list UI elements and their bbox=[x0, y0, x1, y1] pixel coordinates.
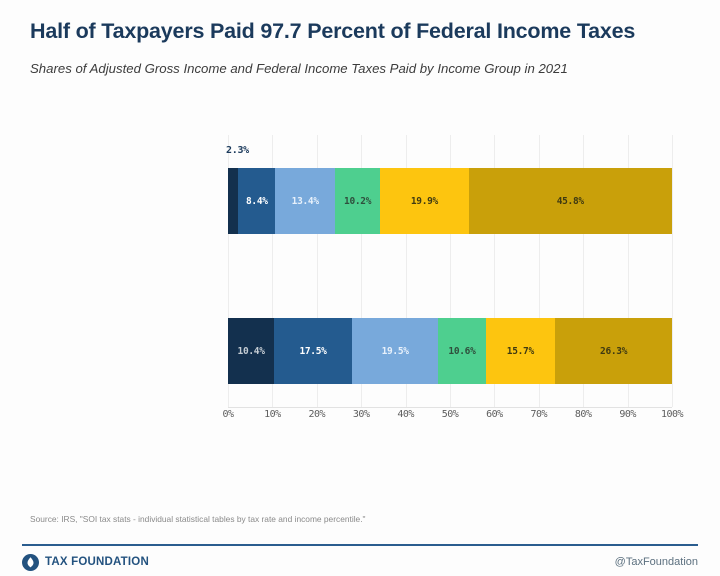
source-note: Source: IRS, "SOI tax stats - individual… bbox=[30, 514, 366, 524]
x-tick-label: 50% bbox=[442, 409, 459, 420]
bar-segment: 15.7% bbox=[486, 318, 556, 384]
bar-segment: 10.6% bbox=[438, 318, 485, 384]
x-tick-label: 20% bbox=[309, 409, 326, 420]
callout-bottom50-share: 2.3% bbox=[226, 145, 249, 156]
brand-name: TAX FOUNDATION bbox=[45, 556, 149, 568]
bar-segment bbox=[228, 168, 238, 234]
bar-segment: 17.5% bbox=[274, 318, 352, 384]
plot-area: 8.4%13.4%10.2%19.9%45.8% 10.4%17.5%19.5%… bbox=[228, 135, 672, 407]
bar-segment: 10.2% bbox=[335, 168, 380, 234]
stacked-bar-row-1: 10.4%17.5%19.5%10.6%15.7%26.3% bbox=[228, 318, 672, 384]
footer-divider bbox=[22, 544, 698, 546]
bar-segment: 8.4% bbox=[238, 168, 275, 234]
social-handle: @TaxFoundation bbox=[615, 556, 698, 568]
header: Half of Taxpayers Paid 97.7 Percent of F… bbox=[0, 0, 720, 78]
footer: TAX FOUNDATION @TaxFoundation bbox=[22, 551, 698, 573]
x-tick-label: 60% bbox=[486, 409, 503, 420]
gridline bbox=[672, 135, 673, 407]
x-axis-line bbox=[228, 407, 672, 408]
bar-segment: 26.3% bbox=[555, 318, 672, 384]
stacked-bar-row-0: 8.4%13.4%10.2%19.9%45.8% bbox=[228, 168, 672, 234]
chart-area: Share of Total Income Taxes Paid Share o… bbox=[0, 135, 720, 425]
x-tick-label: 0% bbox=[222, 409, 233, 420]
x-tick-label: 70% bbox=[531, 409, 548, 420]
bar-segment: 10.4% bbox=[228, 318, 274, 384]
x-tick-label: 40% bbox=[397, 409, 414, 420]
tax-foundation-logo-icon bbox=[22, 554, 39, 571]
x-axis-ticks: 0%10%20%30%40%50%60%70%80%90%100% bbox=[228, 409, 672, 429]
brand: TAX FOUNDATION bbox=[22, 554, 149, 571]
bar-segment: 19.5% bbox=[352, 318, 439, 384]
x-tick-label: 100% bbox=[661, 409, 683, 420]
chart-subtitle: Shares of Adjusted Gross Income and Fede… bbox=[30, 59, 670, 78]
x-tick-label: 90% bbox=[619, 409, 636, 420]
page-title: Half of Taxpayers Paid 97.7 Percent of F… bbox=[30, 18, 690, 46]
x-tick-label: 80% bbox=[575, 409, 592, 420]
bar-segment: 19.9% bbox=[380, 168, 468, 234]
chart-card: Half of Taxpayers Paid 97.7 Percent of F… bbox=[0, 0, 720, 576]
x-tick-label: 30% bbox=[353, 409, 370, 420]
bar-segment: 45.8% bbox=[469, 168, 672, 234]
bar-segment: 13.4% bbox=[275, 168, 334, 234]
x-tick-label: 10% bbox=[264, 409, 281, 420]
